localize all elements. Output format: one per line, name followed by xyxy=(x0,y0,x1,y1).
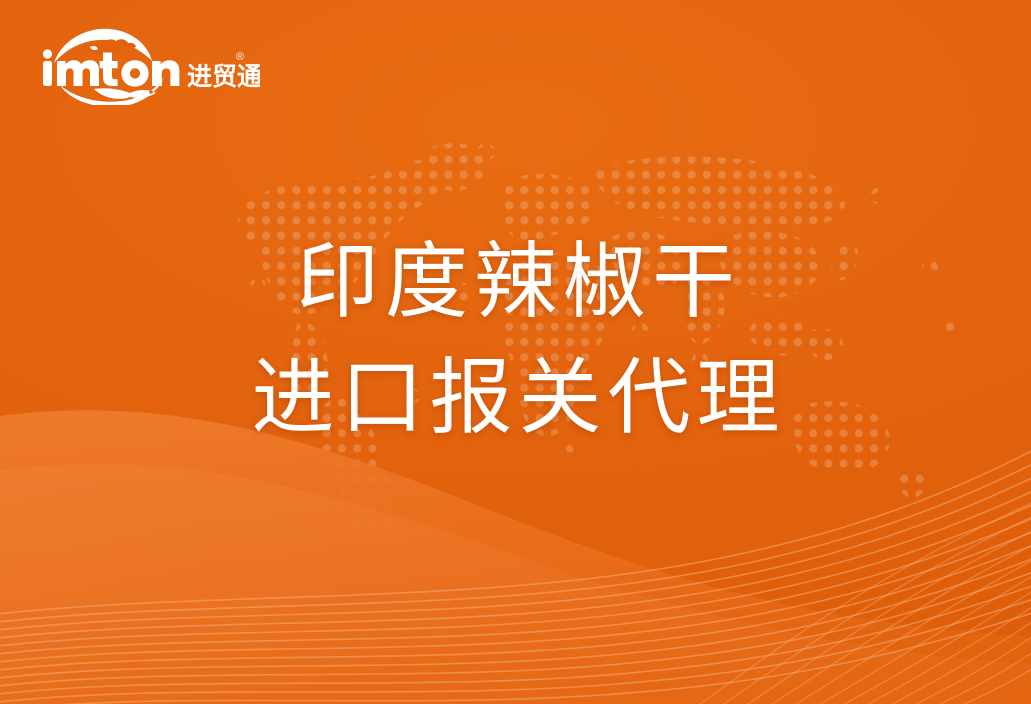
promo-banner: 进贸通 ® 印度辣椒干 进口报关代理 xyxy=(0,0,1031,704)
brand-logo[interactable]: 进贸通 ® xyxy=(40,27,260,105)
logo-chinese-text: 进贸通 xyxy=(187,63,260,91)
registered-mark: ® xyxy=(236,51,244,63)
fan-stripe-lines xyxy=(0,404,1031,704)
logo-wordmark-shape xyxy=(43,49,180,86)
